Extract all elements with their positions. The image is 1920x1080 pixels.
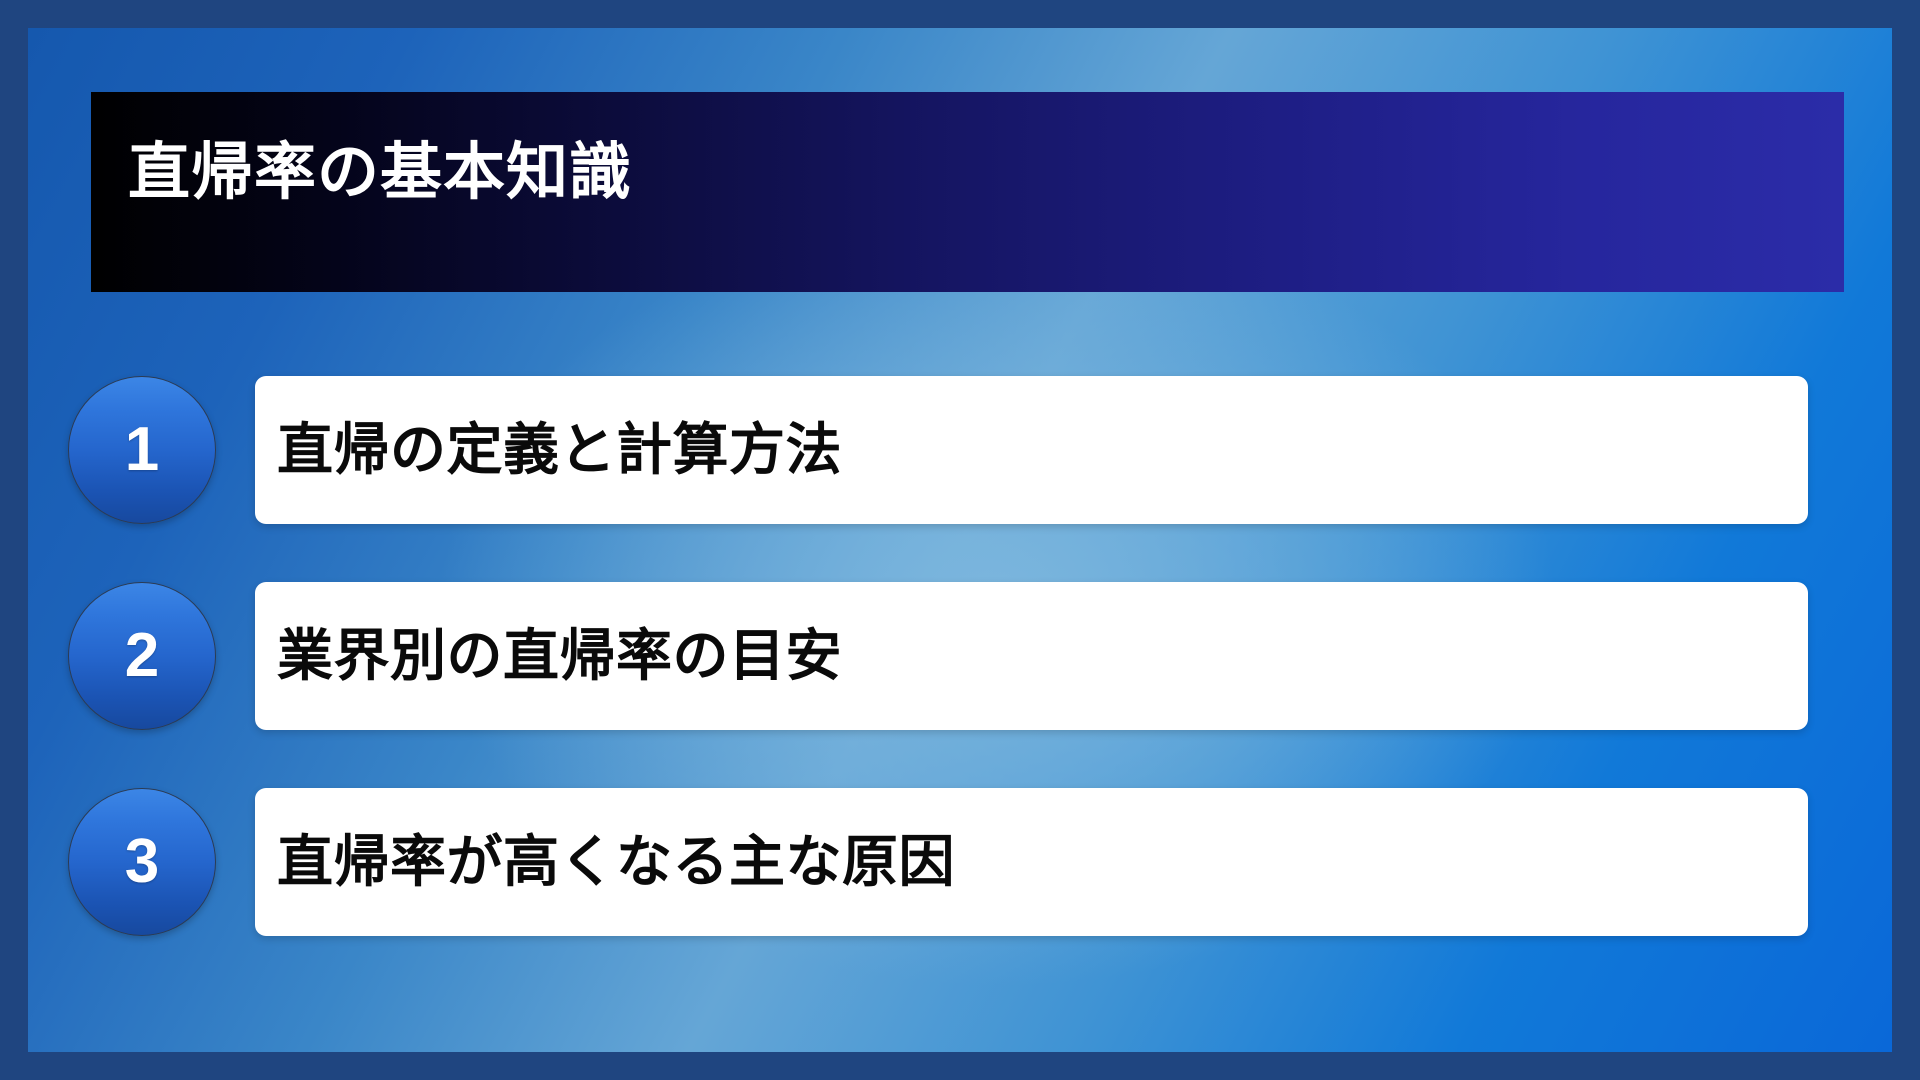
- numbered-list: 1 直帰の定義と計算方法 2 業界別の直帰率の目安 3 直帰: [28, 28, 1892, 1052]
- item-number-label: 3: [125, 831, 159, 893]
- list-item[interactable]: 2 業界別の直帰率の目安: [68, 580, 1828, 732]
- item-card[interactable]: 業界別の直帰率の目安: [255, 582, 1808, 730]
- item-number-badge: 1: [68, 376, 216, 524]
- slide-frame: 直帰率の基本知識 1 直帰の定義と計算方法 2 業界別の直帰率の目安: [0, 0, 1920, 1080]
- list-item[interactable]: 1 直帰の定義と計算方法: [68, 374, 1828, 526]
- item-card-label: 直帰率が高くなる主な原因: [255, 833, 955, 892]
- slide-canvas: 直帰率の基本知識 1 直帰の定義と計算方法 2 業界別の直帰率の目安: [28, 28, 1892, 1052]
- item-number-badge: 3: [68, 788, 216, 936]
- list-item[interactable]: 3 直帰率が高くなる主な原因: [68, 786, 1828, 938]
- item-number-label: 1: [125, 419, 159, 481]
- item-card[interactable]: 直帰の定義と計算方法: [255, 376, 1808, 524]
- item-card-label: 直帰の定義と計算方法: [255, 421, 842, 480]
- item-number-label: 2: [125, 625, 159, 687]
- item-number-badge: 2: [68, 582, 216, 730]
- item-card[interactable]: 直帰率が高くなる主な原因: [255, 788, 1808, 936]
- item-card-label: 業界別の直帰率の目安: [255, 627, 842, 686]
